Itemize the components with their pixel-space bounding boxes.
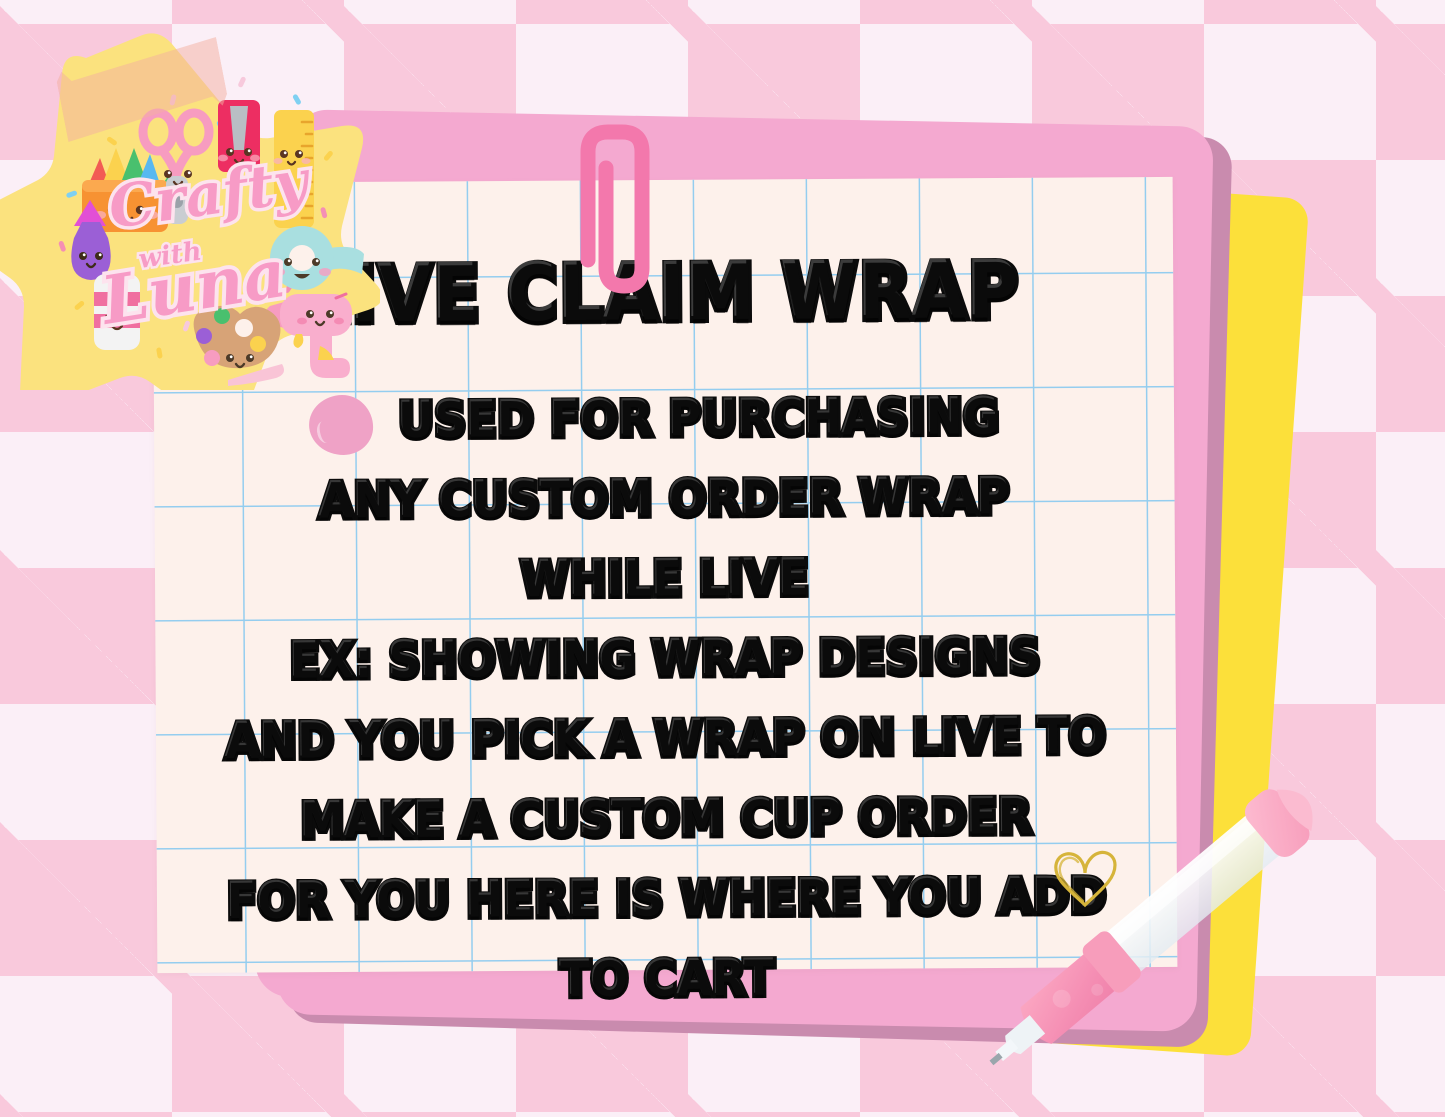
- brand-logo-sticker: Crafty with Luna: [0, 30, 380, 390]
- pink-pen-icon: [930, 660, 1445, 1117]
- poster-canvas: LIVE CLAIM WRAP USED FOR PURCHASING ANY …: [0, 0, 1445, 1117]
- paperclip-icon: [560, 110, 670, 295]
